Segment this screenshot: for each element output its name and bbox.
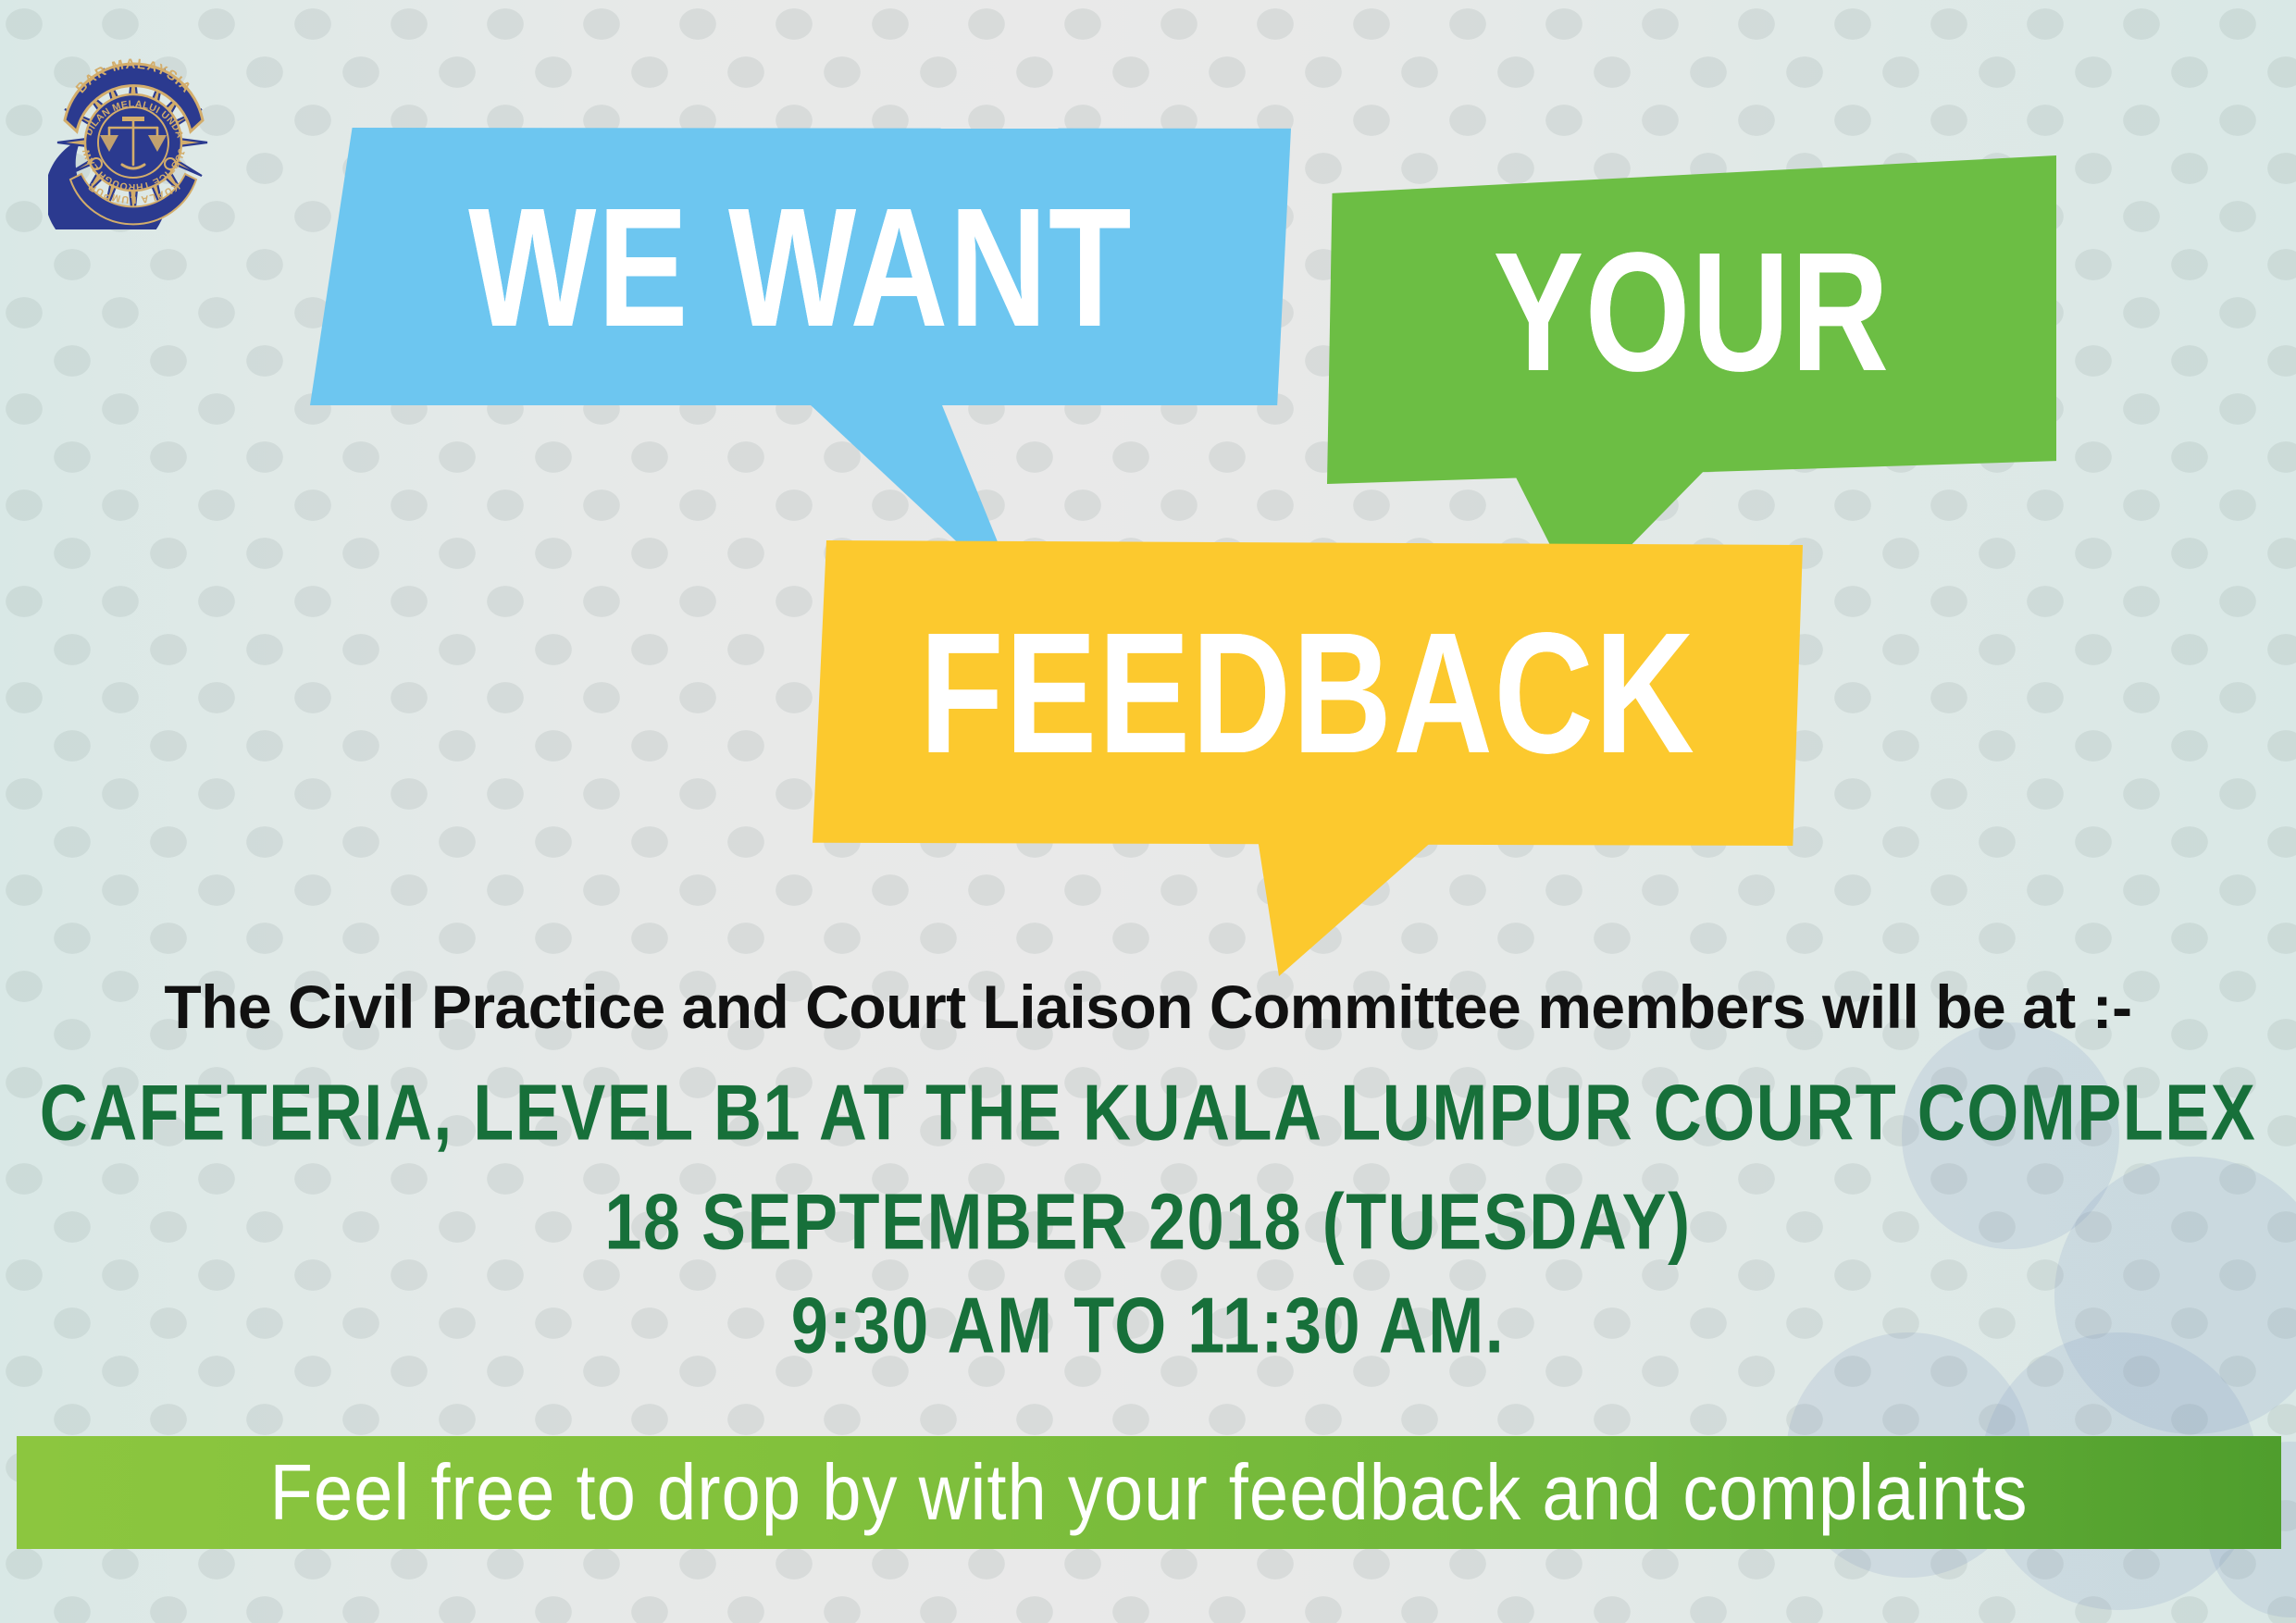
bar-malaysia-logo: BAR MALAYSIA KEADILAN MELALUI UNDANG² JU… [48, 35, 219, 229]
headline-bubble-green: YOUR [1327, 155, 2056, 484]
time-line: 9:30 AM TO 11:30 AM. [0, 1282, 2296, 1371]
headline-bubble-yellow: FEEDBACK [813, 540, 1803, 846]
headline-bubble-blue: WE WANT [310, 128, 1291, 405]
headline-text-your: YOUR [1400, 155, 1983, 484]
footer-message: Feel free to drop by with your feedback … [269, 1447, 2028, 1537]
yellow-bubble-tail [1257, 833, 1442, 976]
headline-text-feedback: FEEDBACK [912, 540, 1704, 846]
feedback-poster: BAR MALAYSIA KEADILAN MELALUI UNDANG² JU… [0, 0, 2296, 1623]
intro-line: The Civil Practice and Court Liaison Com… [0, 972, 2296, 1042]
footer-banner: Feel free to drop by with your feedback … [17, 1436, 2281, 1549]
headline-text-we-want: WE WANT [408, 128, 1193, 405]
venue-line: CAFETERIA, LEVEL B1 AT THE KUALA LUMPUR … [0, 1069, 2296, 1158]
date-line: 18 SEPTEMBER 2018 (TUESDAY) [0, 1178, 2296, 1268]
